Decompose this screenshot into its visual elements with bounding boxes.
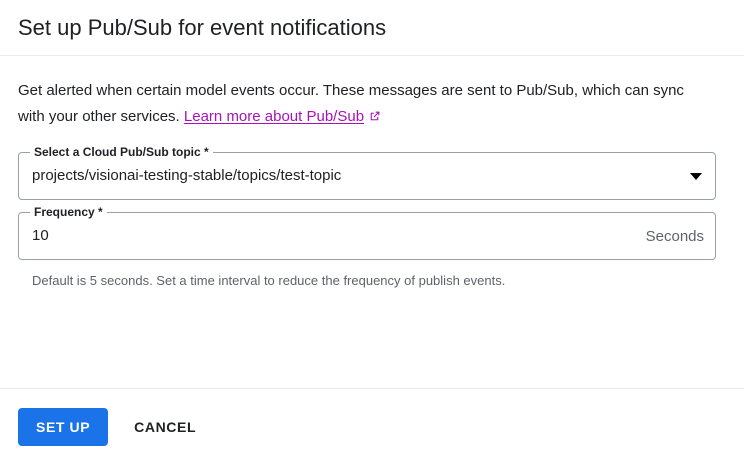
frequency-content: 10 Seconds bbox=[18, 212, 716, 260]
frequency-input[interactable]: 10 bbox=[32, 226, 638, 246]
dialog-body: Get alerted when certain model events oc… bbox=[0, 56, 744, 388]
chevron-down-icon[interactable] bbox=[690, 173, 702, 180]
pubsub-topic-select[interactable]: Select a Cloud Pub/Sub topic * projects/… bbox=[18, 152, 716, 200]
dialog-footer: SET UP CANCEL bbox=[0, 388, 744, 464]
open-in-new-icon bbox=[368, 110, 381, 123]
dialog-header: Set up Pub/Sub for event notifications bbox=[0, 0, 744, 56]
frequency-unit-suffix: Seconds bbox=[646, 228, 704, 245]
dialog-description: Get alerted when certain model events oc… bbox=[18, 78, 708, 130]
learn-more-link-label: Learn more about Pub/Sub bbox=[184, 108, 364, 125]
frequency-helper-text: Default is 5 seconds. Set a time interva… bbox=[32, 272, 726, 290]
page-title: Set up Pub/Sub for event notifications bbox=[18, 14, 386, 42]
learn-more-link[interactable]: Learn more about Pub/Sub bbox=[184, 108, 381, 125]
frequency-field[interactable]: Frequency * 10 Seconds bbox=[18, 212, 716, 260]
set-up-button[interactable]: SET UP bbox=[18, 408, 108, 446]
pubsub-topic-value: projects/visionai-testing-stable/topics/… bbox=[32, 166, 682, 186]
pubsub-topic-label: Select a Cloud Pub/Sub topic * bbox=[30, 144, 213, 160]
cancel-button[interactable]: CANCEL bbox=[126, 408, 204, 446]
pubsub-setup-dialog: Set up Pub/Sub for event notifications G… bbox=[0, 0, 744, 464]
frequency-label: Frequency * bbox=[30, 204, 107, 220]
